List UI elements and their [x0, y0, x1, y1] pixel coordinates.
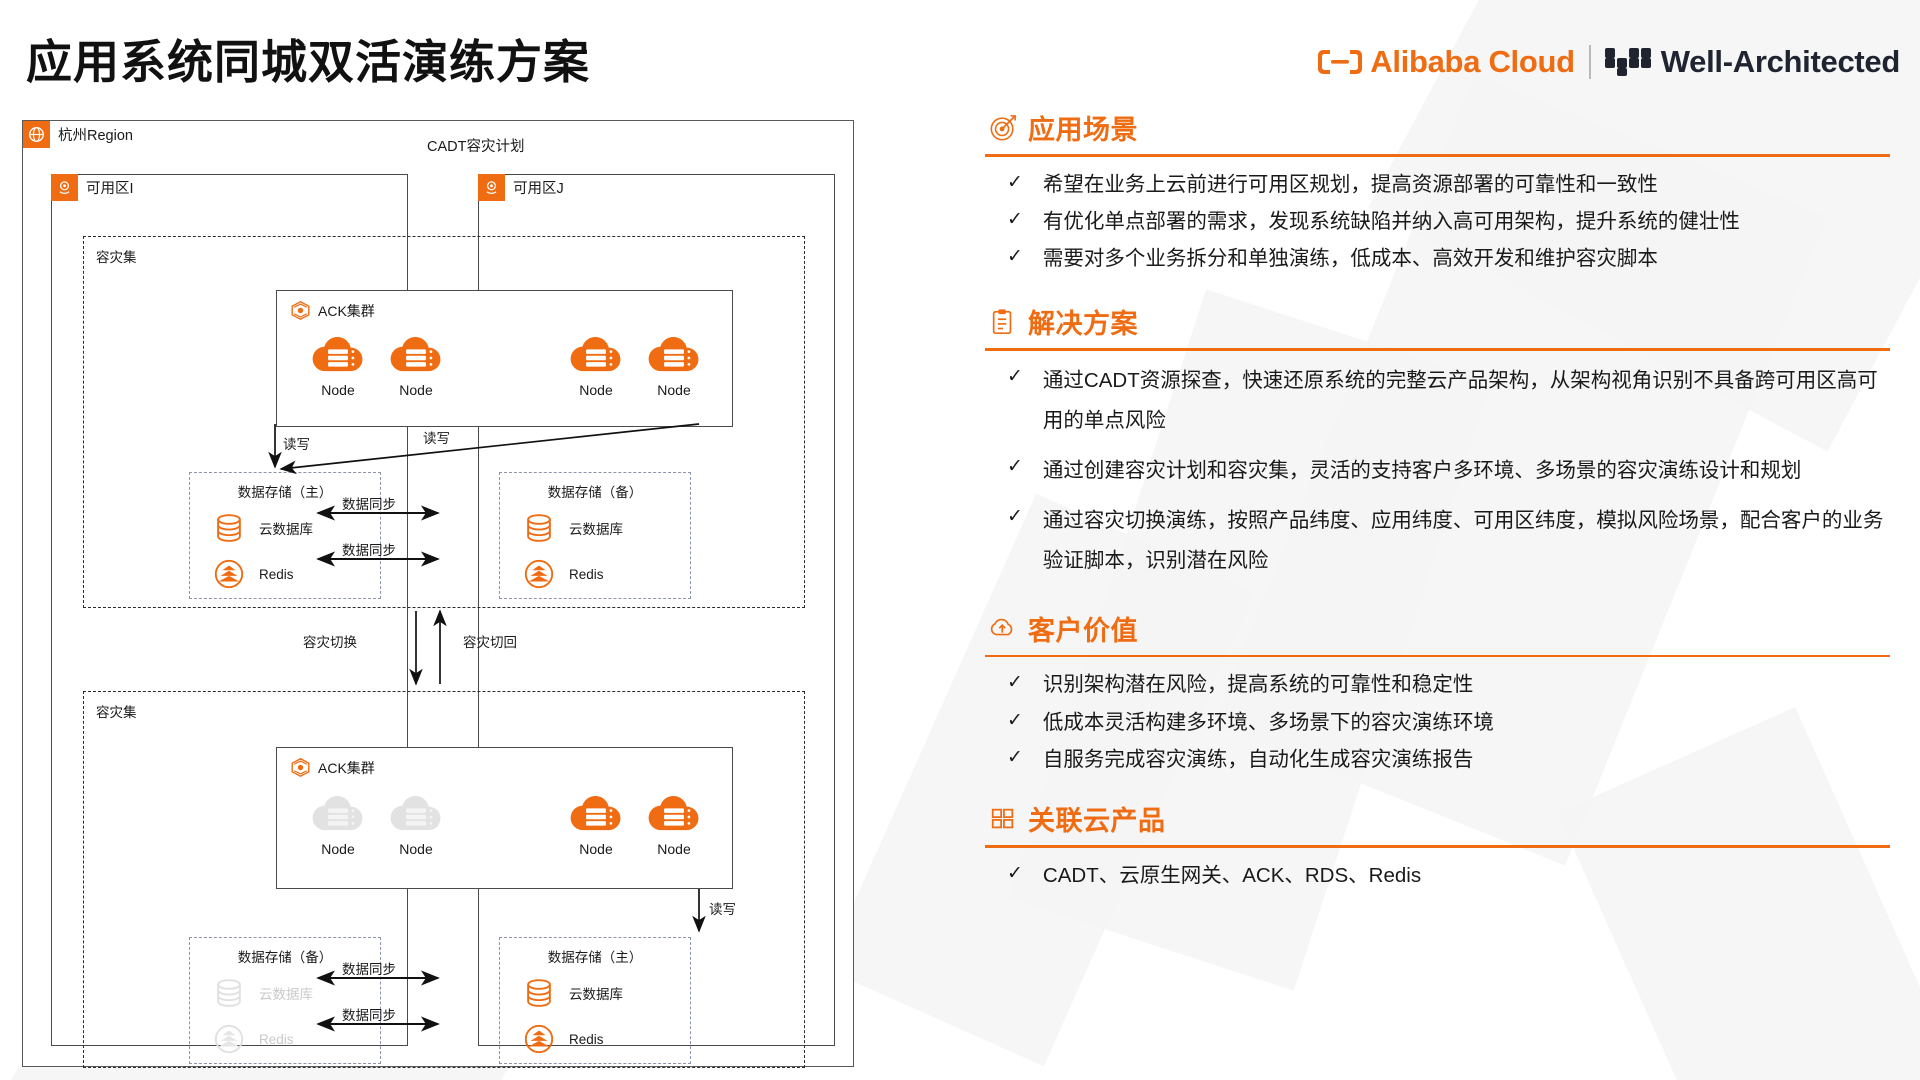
node-label: Node: [557, 841, 635, 857]
node-label: Node: [299, 382, 377, 398]
node-cloud-icon: [645, 331, 703, 375]
section-solution: 解决方案 ✓通过CADT资源探查，快速还原系统的完整云产品架构，从架构视角识别不…: [985, 302, 1890, 580]
read-write-label-bottom: 读写: [709, 898, 736, 918]
section-header: 客户价值: [985, 609, 1890, 648]
bullet-list: ✓通过CADT资源探查，快速还原系统的完整云产品架构，从架构视角识别不具备跨可用…: [985, 361, 1890, 581]
data-sync-label-bottom-redis: 数据同步: [342, 1004, 396, 1024]
node-item: Node: [377, 790, 455, 857]
page-title: 应用系统同城双活演练方案: [26, 26, 590, 92]
section-header: 应用场景: [985, 108, 1890, 147]
section-header: 关联云产品: [985, 799, 1890, 838]
list-item: ✓有优化单点部署的需求，发现系统缺陷并纳入高可用架构，提升系统的健壮性: [985, 204, 1890, 239]
list-item-text: 有优化单点部署的需求，发现系统缺陷并纳入高可用架构，提升系统的健壮性: [1043, 204, 1740, 239]
data-store-title: 数据存储（主）: [500, 946, 690, 966]
node-label: Node: [377, 841, 455, 857]
redis-label: Redis: [569, 567, 604, 582]
data-store-primary-top: 数据存储（主） 云数据库: [189, 472, 381, 599]
check-icon: ✓: [1007, 361, 1023, 393]
redis-icon: [522, 557, 556, 591]
read-write-label-top-cross: 读写: [423, 427, 450, 447]
list-item-text: CADT、云原生网关、ACK、RDS、Redis: [1043, 858, 1421, 893]
failover-label: 容灾切换: [303, 631, 357, 651]
brand-lockup: Alibaba Cloud Well-Architected: [1318, 44, 1900, 80]
az-i-label: 可用区I: [86, 177, 134, 198]
list-item-text: 通过容灾切换演练，按照产品纬度、应用纬度、可用区纬度，模拟风险场景，配合客户的业…: [1043, 501, 1890, 581]
content-panel: 应用场景 ✓希望在业务上云前进行可用区规划，提高资源部署的可靠性和一致性 ✓有优…: [985, 108, 1890, 897]
data-sync-label-top-db: 数据同步: [342, 493, 396, 513]
node-label: Node: [299, 841, 377, 857]
list-item: ✓通过创建容灾计划和容灾集，灵活的支持客户多环境、多场景的容灾演练设计和规划: [985, 451, 1890, 491]
slide-page: 应用系统同城双活演练方案 Alibaba Cloud Well-Ar: [0, 0, 1920, 1080]
cloud-database-icon: [522, 976, 556, 1010]
ack-bottom-left-nodes: Node Node: [299, 790, 455, 857]
node-cloud-icon: [567, 790, 625, 834]
node-cloud-icon: [309, 790, 367, 834]
node-cloud-icon: [567, 331, 625, 375]
ack-cube-icon: [290, 300, 311, 321]
node-item: Node: [635, 331, 713, 398]
node-label: Node: [635, 382, 713, 398]
data-store-standby-bottom: 数据存储（备） 云数据库: [189, 937, 381, 1064]
section-related-products: 关联云产品 ✓CADT、云原生网关、ACK、RDS、Redis: [985, 799, 1890, 893]
check-icon: ✓: [1007, 742, 1023, 774]
check-icon: ✓: [1007, 167, 1023, 199]
check-icon: ✓: [1007, 858, 1023, 890]
ack-bottom-right-nodes: Node Node: [557, 790, 713, 857]
failback-label: 容灾切回: [463, 631, 517, 651]
section-title: 客户价值: [1028, 609, 1138, 648]
redis-row: Redis: [522, 557, 604, 591]
region-label: 杭州Region: [58, 124, 133, 145]
list-item-text: 自服务完成容灾演练，自动化生成容灾演练报告: [1043, 742, 1474, 777]
list-item: ✓希望在业务上云前进行可用区规划，提高资源部署的可靠性和一致性: [985, 167, 1890, 202]
grid-icon: [989, 805, 1017, 833]
redis-icon: [522, 1022, 556, 1056]
architecture-diagram: 杭州Region CADT容灾计划 可用区I 可用区J 容灾集: [22, 120, 854, 1067]
node-cloud-icon: [387, 790, 445, 834]
drill-set-label: 容灾集: [96, 701, 137, 721]
node-cloud-icon: [309, 331, 367, 375]
node-item: Node: [557, 331, 635, 398]
node-item: Node: [377, 331, 455, 398]
ack-cube-icon: [290, 757, 311, 778]
list-item: ✓识别架构潜在风险，提高系统的可靠性和稳定性: [985, 667, 1890, 702]
redis-row: Redis: [212, 1022, 294, 1056]
redis-row: Redis: [522, 1022, 604, 1056]
list-item: ✓需要对多个业务拆分和单独演练，低成本、高效开发和维护容灾脚本: [985, 241, 1890, 276]
node-item: Node: [557, 790, 635, 857]
well-architected-wordmark: Well-Architected: [1661, 44, 1900, 80]
redis-label: Redis: [569, 1032, 604, 1047]
check-icon: ✓: [1007, 204, 1023, 236]
section-header: 解决方案: [985, 302, 1890, 341]
list-item: ✓自服务完成容灾演练，自动化生成容灾演练报告: [985, 742, 1890, 777]
data-store-title: 数据存储（备）: [500, 481, 690, 501]
well-architected-logo: Well-Architected: [1605, 44, 1900, 80]
cloud-database-label: 云数据库: [569, 983, 623, 1003]
section-rule: [985, 655, 1890, 658]
redis-row: Redis: [212, 557, 294, 591]
data-store-primary-bottom: 数据存储（主） 云数据库: [499, 937, 691, 1064]
check-icon: ✓: [1007, 667, 1023, 699]
list-item: ✓通过CADT资源探查，快速还原系统的完整云产品架构，从架构视角识别不具备跨可用…: [985, 361, 1890, 441]
cloud-upload-icon: [989, 614, 1017, 642]
ack-cluster-header: ACK集群: [290, 300, 375, 321]
region-tag: 杭州Region: [23, 121, 133, 148]
ack-top-right-nodes: Node Node: [557, 331, 713, 398]
list-item-text: 希望在业务上云前进行可用区规划，提高资源部署的可靠性和一致性: [1043, 167, 1658, 202]
list-item-text: 识别架构潜在风险，提高系统的可靠性和稳定性: [1043, 667, 1474, 702]
cloud-database-label: 云数据库: [259, 518, 313, 538]
alibaba-cloud-mark-icon: [1318, 47, 1362, 77]
data-store-standby-top: 数据存储（备） 云数据库: [499, 472, 691, 599]
list-item-text: 低成本灵活构建多环境、多场景下的容灾演练环境: [1043, 705, 1494, 740]
redis-label: Redis: [259, 1032, 294, 1047]
node-cloud-icon: [645, 790, 703, 834]
alibaba-cloud-wordmark: Alibaba Cloud: [1370, 44, 1575, 80]
list-item-text: 通过创建容灾计划和容灾集，灵活的支持客户多环境、多场景的容灾演练设计和规划: [1043, 451, 1802, 491]
bullet-list: ✓识别架构潜在风险，提高系统的可靠性和稳定性 ✓低成本灵活构建多环境、多场景下的…: [985, 667, 1890, 777]
section-title: 应用场景: [1028, 108, 1138, 147]
list-item: ✓低成本灵活构建多环境、多场景下的容灾演练环境: [985, 705, 1890, 740]
section-rule: [985, 845, 1890, 848]
az-i-tag: 可用区I: [51, 174, 134, 201]
well-architected-mark-icon: [1605, 48, 1651, 76]
node-item: Node: [299, 331, 377, 398]
target-icon: [989, 114, 1017, 142]
redis-label: Redis: [259, 567, 294, 582]
section-title: 关联云产品: [1028, 799, 1166, 838]
ack-cluster-label: ACK集群: [318, 301, 375, 321]
section-customer-value: 客户价值 ✓识别架构潜在风险，提高系统的可靠性和稳定性 ✓低成本灵活构建多环境、…: [985, 609, 1890, 777]
redis-icon: [212, 1022, 246, 1056]
location-pin-icon: [478, 174, 505, 201]
node-item: Node: [635, 790, 713, 857]
drill-set-label: 容灾集: [96, 246, 137, 266]
check-icon: ✓: [1007, 451, 1023, 483]
check-icon: ✓: [1007, 501, 1023, 533]
redis-icon: [212, 557, 246, 591]
data-sync-label-bottom-db: 数据同步: [342, 958, 396, 978]
ack-cluster-header: ACK集群: [290, 757, 375, 778]
cloud-database-label: 云数据库: [259, 983, 313, 1003]
section-rule: [985, 348, 1890, 351]
read-write-label-top-left: 读写: [283, 433, 310, 453]
section-title: 解决方案: [1028, 302, 1138, 341]
cloud-database-row: 云数据库: [522, 976, 623, 1010]
check-icon: ✓: [1007, 705, 1023, 737]
cloud-database-icon: [212, 511, 246, 545]
cloud-database-label: 云数据库: [569, 518, 623, 538]
bullet-list: ✓希望在业务上云前进行可用区规划，提高资源部署的可靠性和一致性 ✓有优化单点部署…: [985, 167, 1890, 277]
list-item-text: 需要对多个业务拆分和单独演练，低成本、高效开发和维护容灾脚本: [1043, 241, 1658, 276]
drill-set-bottom: 容灾集 ACK集群: [83, 691, 805, 1068]
list-item-text: 通过CADT资源探查，快速还原系统的完整云产品架构，从架构视角识别不具备跨可用区…: [1043, 361, 1890, 441]
node-label: Node: [557, 382, 635, 398]
section-rule: [985, 154, 1890, 157]
location-pin-icon: [51, 174, 78, 201]
cloud-database-icon: [522, 511, 556, 545]
ack-top-left-nodes: Node Node: [299, 331, 455, 398]
node-label: Node: [377, 382, 455, 398]
bullet-list: ✓CADT、云原生网关、ACK、RDS、Redis: [985, 858, 1890, 893]
node-label: Node: [635, 841, 713, 857]
globe-icon: [23, 121, 50, 148]
ack-cluster-bottom: ACK集群 Node: [276, 747, 733, 889]
cloud-database-row: 云数据库: [212, 511, 313, 545]
brand-divider: [1589, 45, 1591, 79]
ack-cluster-top: ACK集群 Node: [276, 290, 733, 427]
drill-set-top: 容灾集 ACK集群: [83, 236, 805, 608]
az-j-label: 可用区J: [513, 177, 564, 198]
clipboard-icon: [989, 308, 1017, 336]
list-item: ✓通过容灾切换演练，按照产品纬度、应用纬度、可用区纬度，模拟风险场景，配合客户的…: [985, 501, 1890, 581]
section-application-scenarios: 应用场景 ✓希望在业务上云前进行可用区规划，提高资源部署的可靠性和一致性 ✓有优…: [985, 108, 1890, 276]
cloud-database-icon: [212, 976, 246, 1010]
node-item: Node: [299, 790, 377, 857]
az-j-tag: 可用区J: [478, 174, 564, 201]
ack-cluster-label: ACK集群: [318, 758, 375, 778]
cloud-database-row: 云数据库: [522, 511, 623, 545]
list-item: ✓CADT、云原生网关、ACK、RDS、Redis: [985, 858, 1890, 893]
plan-label: CADT容灾计划: [427, 135, 524, 156]
node-cloud-icon: [387, 331, 445, 375]
alibaba-cloud-logo: Alibaba Cloud: [1318, 44, 1575, 80]
data-sync-label-top-redis: 数据同步: [342, 539, 396, 559]
check-icon: ✓: [1007, 241, 1023, 273]
cloud-database-row: 云数据库: [212, 976, 313, 1010]
